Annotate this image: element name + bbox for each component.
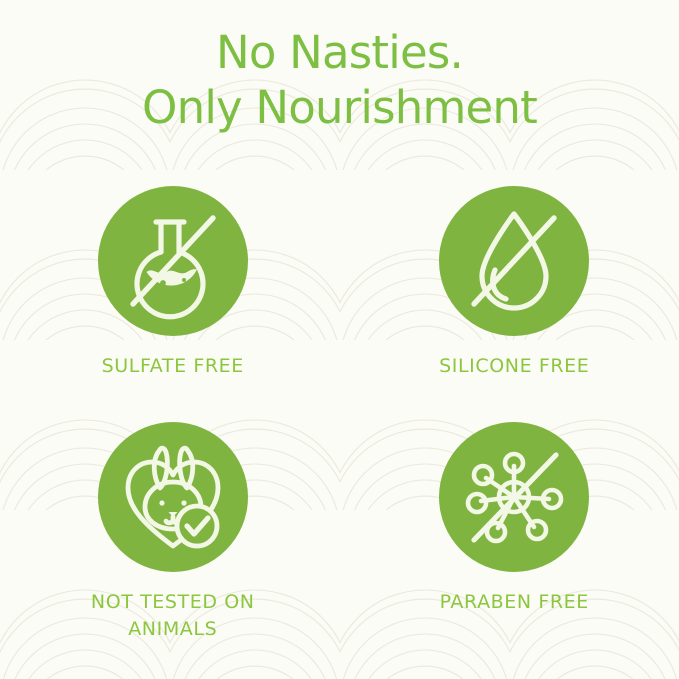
no-nasties-infographic: No Nasties. Only Nourishment <box>0 0 679 679</box>
badge-label-paraben-free: PARABEN FREE <box>440 589 589 616</box>
badge-disc-silicone-free <box>439 186 589 336</box>
badge-disc-not-tested-on-animals <box>98 422 248 572</box>
droplet-no-icon <box>439 186 589 336</box>
badge-silicone-free: SILICONE FREE <box>340 186 679 422</box>
headline-line-2: Only Nourishment <box>0 81 679 136</box>
badge-label-silicone-free: SILICONE FREE <box>439 353 589 380</box>
badge-grid: SULFATE FREE SILICONE FREE <box>0 186 679 656</box>
badge-disc-sulfate-free <box>98 186 248 336</box>
headline: No Nasties. Only Nourishment <box>0 26 679 136</box>
badge-label-sulfate-free: SULFATE FREE <box>102 353 244 380</box>
headline-line-1: No Nasties. <box>0 26 679 81</box>
badge-not-tested-on-animals: NOT TESTED ON ANIMALS <box>0 422 340 656</box>
molecule-no-icon <box>439 422 589 572</box>
badge-sulfate-free: SULFATE FREE <box>0 186 340 422</box>
badge-label-not-tested-on-animals: NOT TESTED ON ANIMALS <box>91 589 255 643</box>
badge-paraben-free: PARABEN FREE <box>340 422 679 656</box>
bunny-heart-check-icon <box>98 422 248 572</box>
badge-disc-paraben-free <box>439 422 589 572</box>
flask-no-icon <box>98 186 248 336</box>
